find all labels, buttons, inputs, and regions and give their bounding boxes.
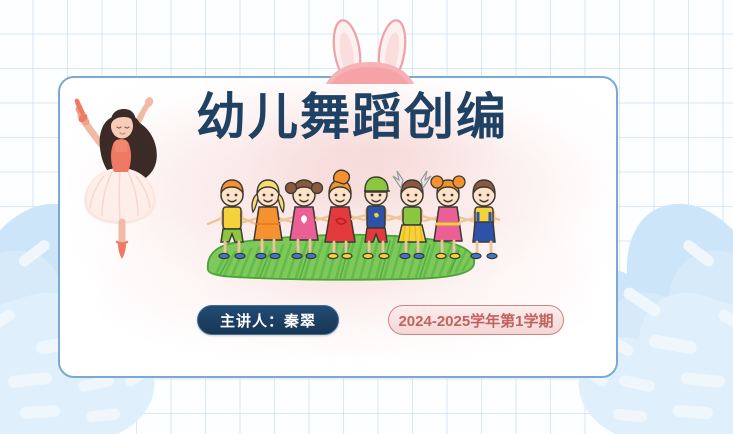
children-holding-hands-illustration: [200, 162, 500, 282]
page-title: 幼儿舞蹈创编: [196, 88, 546, 146]
speaker-badge: 主讲人：秦翠: [197, 305, 339, 335]
bunny-ears-icon: [316, 18, 424, 84]
presentation-slide: 幼儿舞蹈创编: [0, 0, 733, 434]
term-badge: 2024-2025学年第1学期: [388, 305, 564, 335]
footer-labels: 主讲人：秦翠 2024-2025学年第1学期: [0, 303, 733, 337]
ballerina-illustration: [72, 82, 168, 262]
